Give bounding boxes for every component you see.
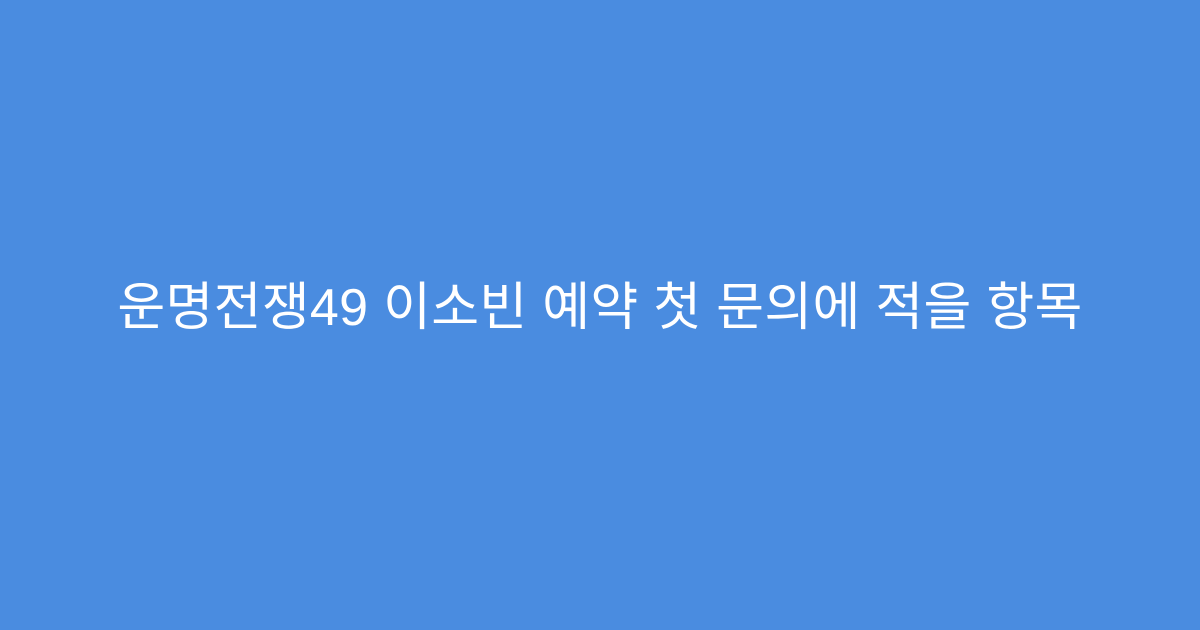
share-card: 운명전쟁49 이소빈 예약 첫 문의에 적을 항목 — [0, 0, 1200, 630]
card-title: 운명전쟁49 이소빈 예약 첫 문의에 적을 항목 — [117, 276, 1082, 341]
share-card-content: 운명전쟁49 이소빈 예약 첫 문의에 적을 항목 — [0, 276, 1200, 341]
